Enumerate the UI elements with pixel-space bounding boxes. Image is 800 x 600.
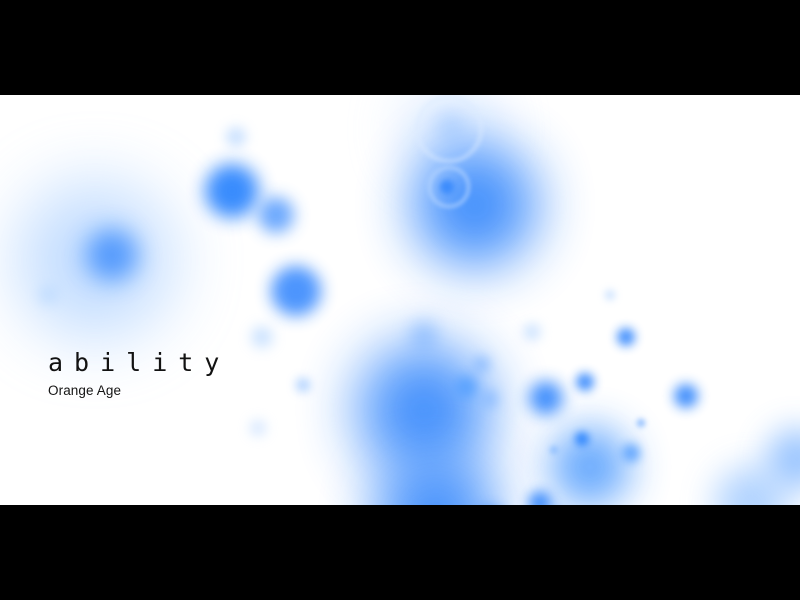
bokeh-particle (39, 286, 57, 304)
letterbox-bar-top (0, 0, 800, 95)
letterbox-bar-bottom (0, 505, 800, 600)
bokeh-particle (576, 373, 594, 391)
bokeh-particle (480, 390, 498, 408)
bokeh-particle (575, 432, 589, 446)
bokeh-particle (637, 419, 645, 427)
bokeh-particle (413, 143, 537, 267)
page-title: ability (48, 350, 230, 375)
bokeh-background (0, 95, 800, 505)
bokeh-particle (617, 328, 635, 346)
bokeh-particle (205, 164, 259, 218)
bokeh-particle (674, 384, 698, 408)
video-frame: ability Orange Age (0, 95, 800, 505)
bokeh-particle (528, 491, 552, 505)
subtitle: Orange Age (48, 384, 230, 398)
bokeh-ring (415, 95, 483, 163)
video-stage: ability Orange Age (0, 0, 800, 600)
bokeh-particle (605, 290, 615, 300)
bokeh-particle (622, 444, 640, 462)
bokeh-particle (271, 266, 321, 316)
bokeh-particle (86, 229, 138, 281)
bokeh-particle (524, 324, 540, 340)
bokeh-particle (529, 381, 563, 415)
bokeh-particle (258, 197, 294, 233)
bokeh-particle (252, 327, 272, 347)
bokeh-particle (455, 376, 477, 398)
bokeh-particle (226, 127, 246, 147)
bokeh-particle (296, 378, 310, 392)
bokeh-particle (550, 446, 558, 454)
bokeh-particle (250, 420, 266, 436)
bokeh-particle (550, 427, 630, 505)
bokeh-ring (428, 166, 470, 208)
title-block: ability Orange Age (48, 350, 230, 398)
